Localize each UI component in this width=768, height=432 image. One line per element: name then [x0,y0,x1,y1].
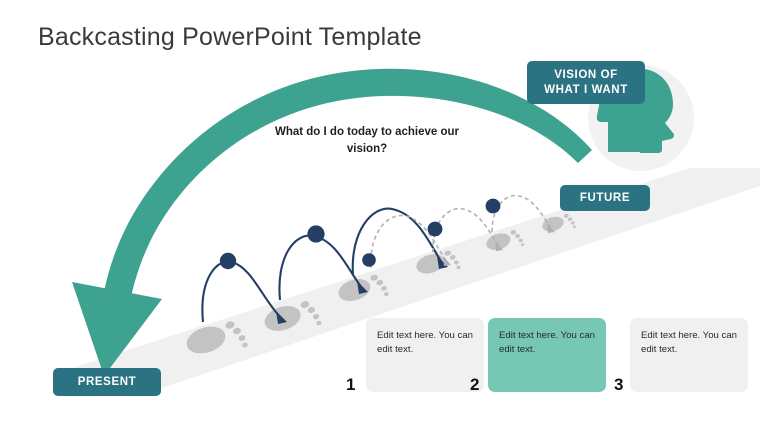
badge-vision[interactable]: VISION OF WHAT I WANT [527,61,645,104]
milestone-dot [362,253,376,267]
badge-vision-line1: VISION OF [544,68,628,82]
step-textbox-3[interactable]: Edit text here. You can edit text. [630,318,748,392]
milestone-dot [307,225,324,242]
question-text: What do I do today to achieve our vision… [272,124,462,157]
badge-future[interactable]: FUTURE [560,185,650,211]
step-number-2: 2 [470,375,479,395]
milestone-dot [428,222,443,237]
step-number-3: 3 [614,375,623,395]
milestone-dot [486,199,501,214]
step-number-1: 1 [346,375,355,395]
badge-vision-line2: WHAT I WANT [544,83,628,97]
slide-canvas: Backcasting PowerPoint Template [0,0,768,432]
step-textbox-1[interactable]: Edit text here. You can edit text. [366,318,484,392]
milestone-dot [220,253,236,269]
badge-present[interactable]: PRESENT [53,368,161,396]
step-textbox-2[interactable]: Edit text here. You can edit text. [488,318,606,392]
